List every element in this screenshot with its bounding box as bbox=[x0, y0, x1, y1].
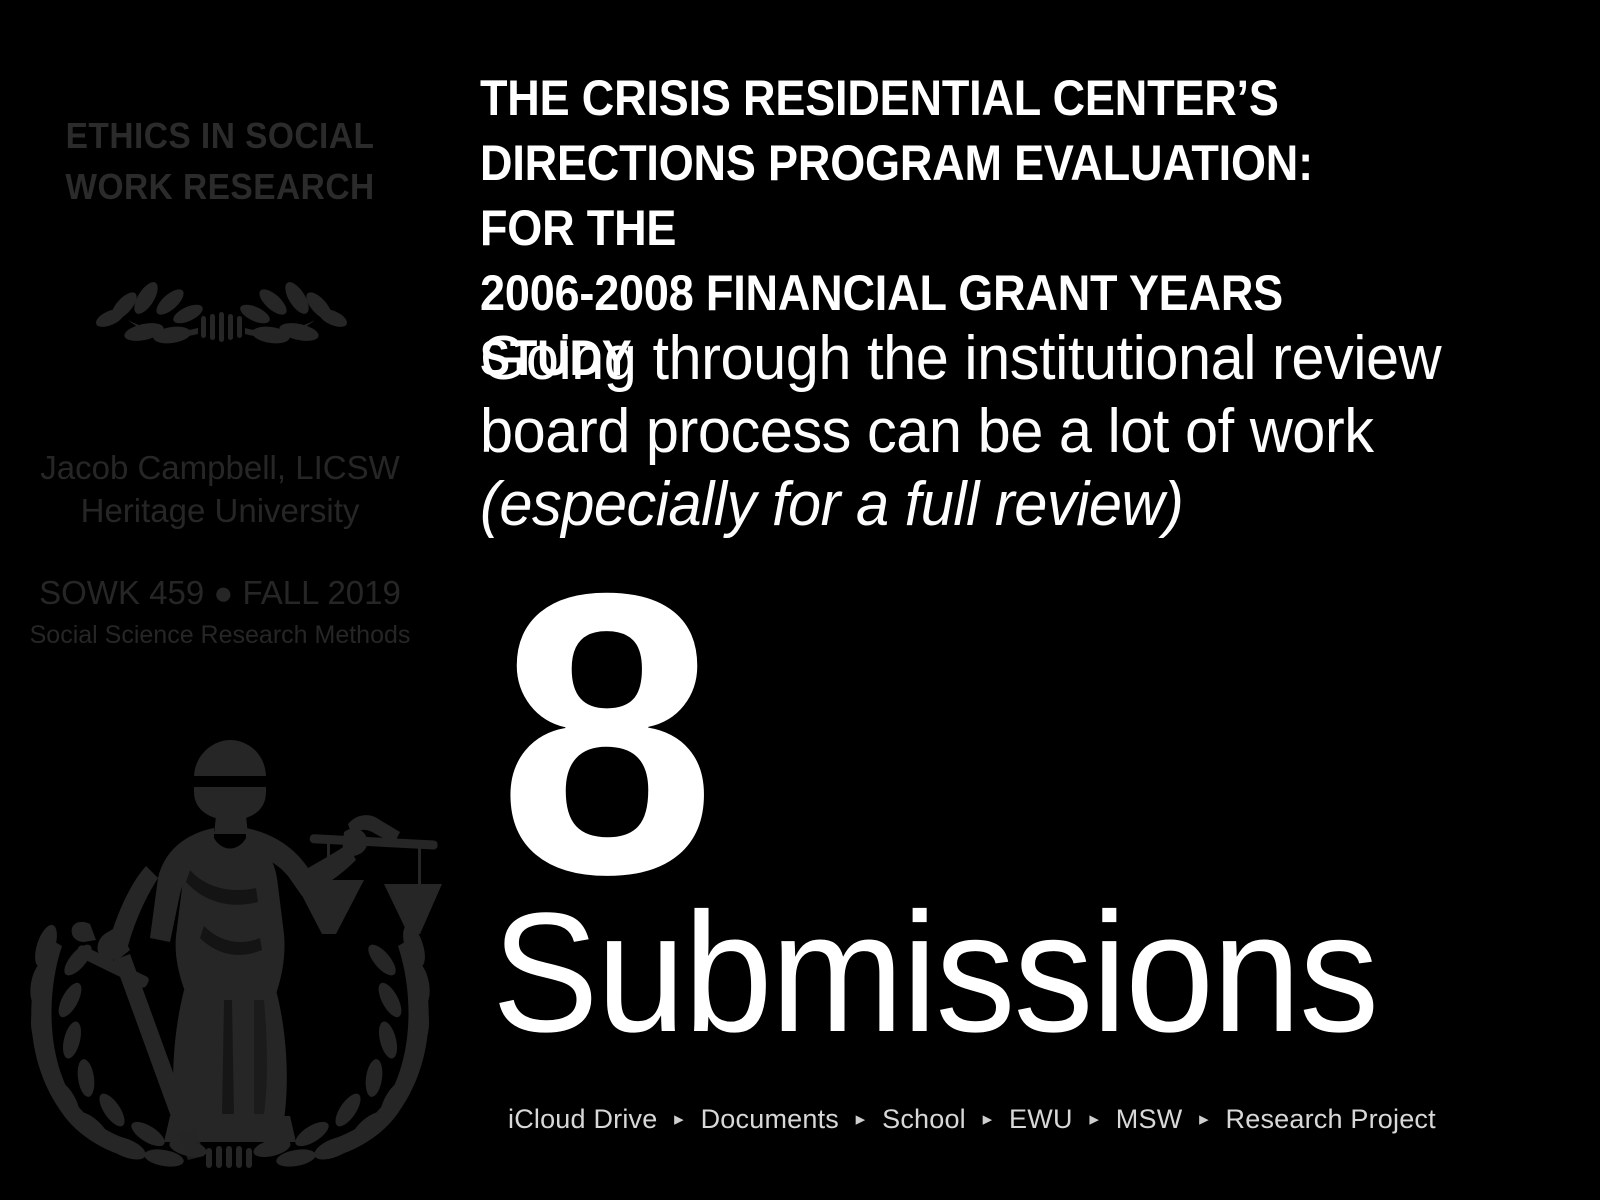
author-name: Jacob Campbell, LICSW bbox=[0, 447, 440, 490]
course-meta-block: SOWK 459 ● FALL 2019 Social Science Rese… bbox=[0, 572, 440, 651]
breadcrumb-item-icloud-drive[interactable]: iCloud Drive bbox=[508, 1104, 657, 1134]
chevron-right-icon: ▸ bbox=[856, 1108, 866, 1131]
chevron-right-icon: ▸ bbox=[983, 1108, 993, 1131]
breadcrumb-item-school[interactable]: School bbox=[882, 1104, 966, 1134]
course-subtitle: Social Science Research Methods bbox=[0, 619, 440, 652]
slide-body-text: Going through the institutional review b… bbox=[480, 322, 1469, 541]
presentation-slide: ETHICS IN SOCIAL WORK RESEARCH bbox=[0, 0, 1600, 1200]
breadcrumb-item-research-project[interactable]: Research Project bbox=[1226, 1104, 1436, 1134]
breadcrumb-item-documents[interactable]: Documents bbox=[701, 1104, 839, 1134]
breadcrumb-item-ewu[interactable]: EWU bbox=[1009, 1104, 1073, 1134]
body-line-2: board process can be a lot of work bbox=[480, 395, 1469, 468]
chevron-right-icon: ▸ bbox=[674, 1108, 684, 1131]
laurel-branch-icon bbox=[80, 262, 360, 362]
course-title-line-1: ETHICS IN SOCIAL bbox=[15, 110, 424, 161]
slide-title-line-2: DIRECTIONS PROGRAM EVALUATION: FOR THE bbox=[480, 131, 1389, 261]
slide-sidebar: ETHICS IN SOCIAL WORK RESEARCH bbox=[0, 0, 440, 1200]
course-title: ETHICS IN SOCIAL WORK RESEARCH bbox=[15, 110, 424, 212]
course-code: SOWK 459 ● FALL 2019 bbox=[0, 572, 440, 615]
author-institution: Heritage University bbox=[0, 490, 440, 533]
chevron-right-icon: ▸ bbox=[1089, 1108, 1099, 1131]
breadcrumb: iCloud Drive ▸ Documents ▸ School ▸ EWU … bbox=[508, 1104, 1558, 1135]
statistic-label: Submissions bbox=[492, 888, 1438, 1058]
body-line-1: Going through the institutional review bbox=[480, 322, 1469, 395]
slide-title-line-1: THE CRISIS RESIDENTIAL CENTER’S bbox=[480, 66, 1389, 131]
course-title-line-2: WORK RESEARCH bbox=[15, 161, 424, 212]
chevron-right-icon: ▸ bbox=[1199, 1108, 1209, 1131]
lady-justice-laurel-icon bbox=[18, 728, 442, 1168]
breadcrumb-item-msw[interactable]: MSW bbox=[1116, 1104, 1183, 1134]
slide-main-content: THE CRISIS RESIDENTIAL CENTER’S DIRECTIO… bbox=[480, 0, 1600, 1200]
statistic-number: 8 bbox=[498, 562, 1478, 906]
author-block: Jacob Campbell, LICSW Heritage Universit… bbox=[0, 447, 440, 533]
statistic-block: 8 Submissions bbox=[498, 562, 1498, 1058]
